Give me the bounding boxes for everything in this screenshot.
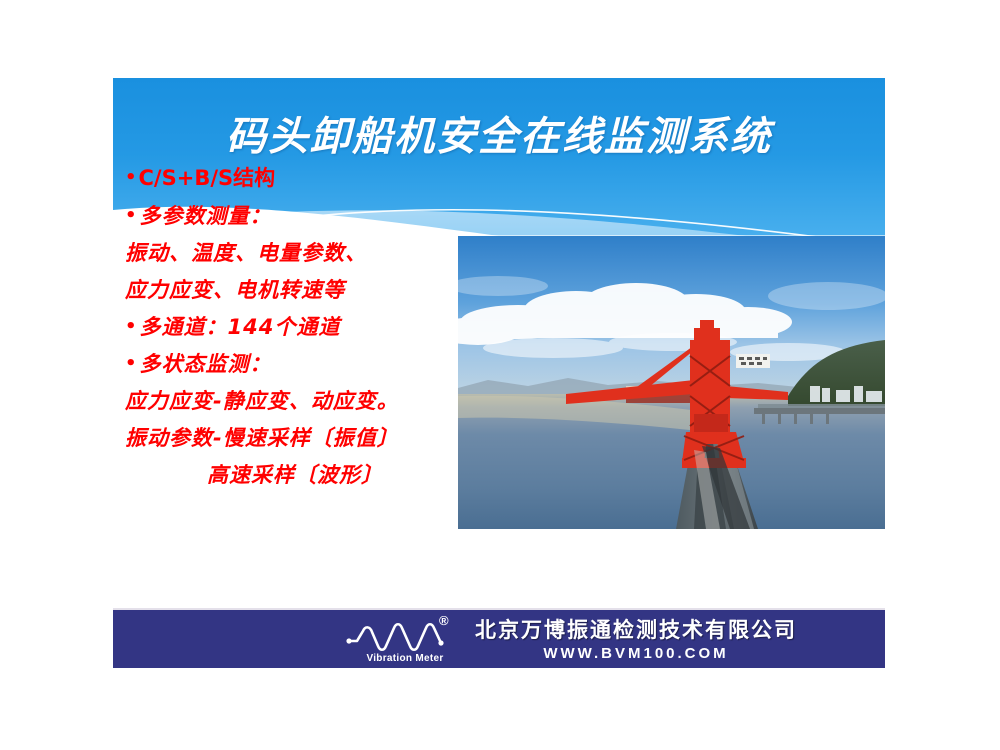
text-line-params-2: 应力应变、电机转速等 [125,280,475,301]
text-line-strain: 应力应变-静应变、动应变。 [125,391,475,412]
slide-content-area: 码头卸船机安全在线监测系统 C/S+B/S结构 多参数测量： 振动、温度、电量参… [113,78,885,532]
footer-content: Vibration Meter ® 北京万博振通检测技术有限公司 WWW.BVM… [345,615,797,665]
unloader-photo-image [458,236,885,529]
text-line-params-1: 振动、温度、电量参数、 [125,243,475,264]
company-logo: Vibration Meter ® [345,615,465,665]
bullet-item-multistate: 多状态监测： [125,354,475,375]
unloader-photo [458,236,885,529]
company-name: 北京万博振通检测技术有限公司 [475,614,797,644]
text-line-vib-fast: 高速采样〔波形〕 [125,465,475,486]
company-website-url: WWW.BVM100.COM [475,645,797,662]
bullet-list: C/S+B/S结构 多参数测量： 振动、温度、电量参数、 应力应变、电机转速等 … [125,168,475,502]
bullet-item-multiparam: 多参数测量： [125,206,475,227]
logo-caption: Vibration Meter [347,653,463,664]
footer-text-group: 北京万博振通检测技术有限公司 WWW.BVM100.COM [475,614,797,662]
page-title: 码头卸船机安全在线监测系统 [113,104,885,162]
slide-root: 码头卸船机安全在线监测系统 C/S+B/S结构 多参数测量： 振动、温度、电量参… [0,0,1000,750]
bullet-item-cs-bs: C/S+B/S结构 [125,168,475,189]
footer-bar: Vibration Meter ® 北京万博振通检测技术有限公司 WWW.BVM… [113,608,885,668]
text-line-vib-slow: 振动参数-慢速采样〔振值〕 [125,428,475,449]
bullet-item-channels: 多通道：144个通道 [125,317,475,338]
registered-trademark-icon: ® [439,613,449,628]
